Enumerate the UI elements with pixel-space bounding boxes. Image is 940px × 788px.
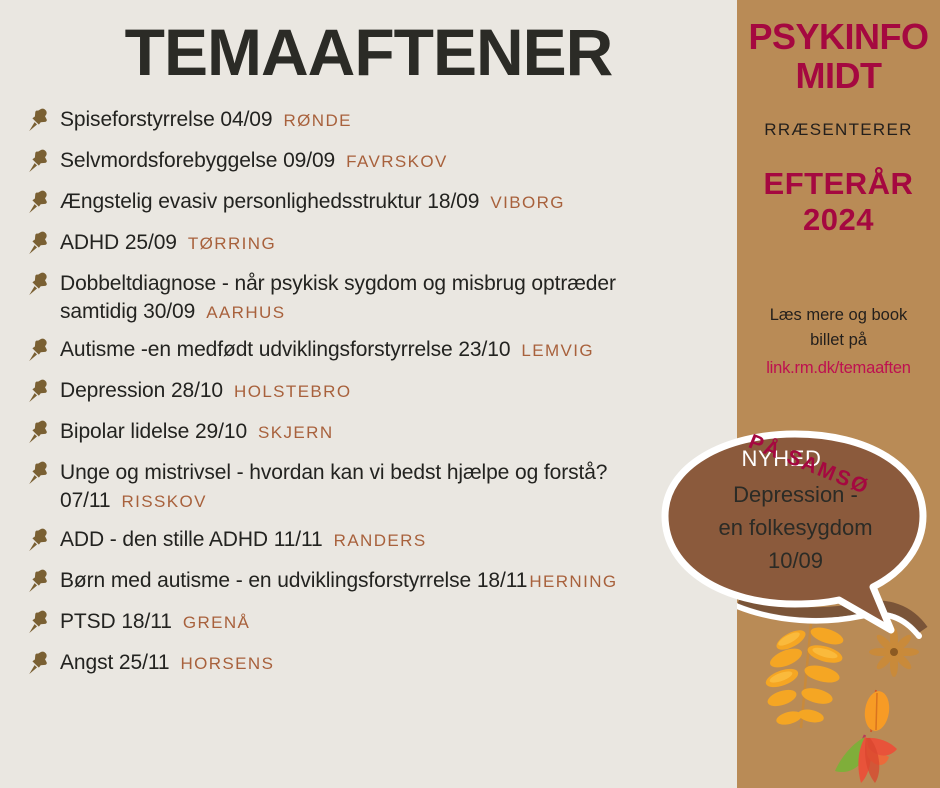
sidebar-panel: PSYKINFO MIDT RRÆSENTERER EFTERÅR 2024 L… bbox=[737, 0, 940, 788]
list-item[interactable]: Autisme -en medfødt udviklingsforstyrrel… bbox=[24, 334, 740, 366]
event-title: Dobbeltdiagnose - når psykisk sygdom og … bbox=[60, 272, 616, 323]
list-item[interactable]: PTSD 18/11GRENÅ bbox=[24, 606, 740, 638]
event-text: Depression 28/10HOLSTEBRO bbox=[60, 375, 351, 405]
event-title: Spiseforstyrrelse 04/09 bbox=[60, 108, 272, 131]
pushpin-icon bbox=[24, 458, 54, 488]
event-title: Depression 28/10 bbox=[60, 379, 223, 402]
event-text: Autisme -en medfødt udviklingsforstyrrel… bbox=[60, 334, 594, 364]
pushpin-icon bbox=[24, 525, 54, 555]
pushpin-icon bbox=[24, 376, 54, 406]
event-city: HERNING bbox=[529, 572, 617, 591]
event-city: SKJERN bbox=[258, 423, 333, 442]
event-city: VIBORG bbox=[490, 193, 565, 212]
pushpin-icon bbox=[24, 648, 54, 678]
booking-url-link[interactable]: link.rm.dk/temaaften bbox=[737, 356, 940, 382]
event-list: Spiseforstyrrelse 04/09RØNDE Selvmordsfo… bbox=[24, 104, 740, 688]
event-title: Børn med autisme - en udviklingsforstyrr… bbox=[60, 569, 527, 592]
event-city: TØRRING bbox=[188, 234, 276, 253]
list-item[interactable]: Unge og mistrivsel - hvordan kan vi beds… bbox=[24, 457, 740, 514]
page-title: TEMAAFTENER bbox=[0, 14, 737, 90]
event-text: PTSD 18/11GRENÅ bbox=[60, 606, 250, 636]
event-title: Autisme -en medfødt udviklingsforstyrrel… bbox=[60, 338, 510, 361]
news-speech-bubble[interactable]: NYHED Depression - en folkesygdom 10/09 bbox=[655, 424, 940, 649]
event-text: Ængstelig evasiv personlighedsstruktur 1… bbox=[60, 186, 565, 216]
poster-canvas: TEMAAFTENER Spiseforstyrrelse 04/09RØNDE… bbox=[0, 0, 940, 788]
pushpin-icon bbox=[24, 228, 54, 258]
event-text: Angst 25/11HORSENS bbox=[60, 647, 274, 677]
event-title: Ængstelig evasiv personlighedsstruktur 1… bbox=[60, 190, 479, 213]
event-text: ADHD 25/09TØRRING bbox=[60, 227, 276, 257]
event-title: Bipolar lidelse 29/10 bbox=[60, 420, 247, 443]
brand-name-line1: PSYKINFO bbox=[737, 18, 940, 57]
event-text: Børn med autisme - en udviklingsforstyrr… bbox=[60, 565, 618, 595]
booking-line2: billet på bbox=[737, 328, 940, 354]
list-item[interactable]: Ængstelig evasiv personlighedsstruktur 1… bbox=[24, 186, 740, 218]
event-city: RØNDE bbox=[283, 111, 351, 130]
pushpin-icon bbox=[24, 607, 54, 637]
list-item[interactable]: ADHD 25/09TØRRING bbox=[24, 227, 740, 259]
event-city: LEMVIG bbox=[521, 341, 594, 360]
pushpin-icon bbox=[24, 269, 54, 299]
list-item[interactable]: Selvmordsforebyggelse 09/09FAVRSKOV bbox=[24, 145, 740, 177]
event-city: AARHUS bbox=[206, 303, 285, 322]
event-city: RANDERS bbox=[334, 531, 427, 550]
list-item[interactable]: Børn med autisme - en udviklingsforstyrr… bbox=[24, 565, 740, 597]
event-city: HORSENS bbox=[180, 654, 274, 673]
booking-line1: Læs mere og book bbox=[737, 303, 940, 329]
pushpin-icon bbox=[24, 566, 54, 596]
bubble-text-block: NYHED Depression - en folkesygdom 10/09 bbox=[683, 446, 908, 577]
brand-name-line2: MIDT bbox=[737, 57, 940, 96]
season-year: 2024 bbox=[737, 202, 940, 239]
event-city: GRENÅ bbox=[183, 613, 250, 632]
pushpin-icon bbox=[24, 335, 54, 365]
news-badge: NYHED bbox=[655, 446, 908, 472]
bubble-date: 10/09 bbox=[683, 545, 908, 576]
event-title: ADD - den stille ADHD 11/11 bbox=[60, 528, 323, 551]
booking-info: Læs mere og book billet på link.rm.dk/te… bbox=[737, 303, 940, 382]
event-text: Spiseforstyrrelse 04/09RØNDE bbox=[60, 104, 352, 134]
list-item[interactable]: ADD - den stille ADHD 11/11RANDERS bbox=[24, 524, 740, 556]
event-city: FAVRSKOV bbox=[346, 152, 448, 171]
event-text: ADD - den stille ADHD 11/11RANDERS bbox=[60, 524, 427, 554]
list-item[interactable]: Bipolar lidelse 29/10SKJERN bbox=[24, 416, 740, 448]
event-text: Selvmordsforebyggelse 09/09FAVRSKOV bbox=[60, 145, 448, 175]
event-title: Selvmordsforebyggelse 09/09 bbox=[60, 149, 335, 172]
season-line1: EFTERÅR bbox=[737, 166, 940, 203]
event-text: Dobbeltdiagnose - når psykisk sygdom og … bbox=[60, 268, 660, 325]
list-item[interactable]: Spiseforstyrrelse 04/09RØNDE bbox=[24, 104, 740, 136]
bubble-line1: Depression - bbox=[683, 479, 908, 510]
pushpin-icon bbox=[24, 146, 54, 176]
bubble-line2: en folkesygdom bbox=[683, 512, 908, 543]
list-item[interactable]: Depression 28/10HOLSTEBRO bbox=[24, 375, 740, 407]
event-city: RISSKOV bbox=[122, 492, 207, 511]
pushpin-icon bbox=[24, 105, 54, 135]
presents-label: RRÆSENTERER bbox=[737, 120, 940, 140]
event-city: HOLSTEBRO bbox=[234, 382, 351, 401]
event-text: Bipolar lidelse 29/10SKJERN bbox=[60, 416, 334, 446]
list-item[interactable]: Angst 25/11HORSENS bbox=[24, 647, 740, 679]
event-title: ADHD 25/09 bbox=[60, 231, 177, 254]
event-title: PTSD 18/11 bbox=[60, 610, 172, 633]
pushpin-icon bbox=[24, 417, 54, 447]
list-item[interactable]: Dobbeltdiagnose - når psykisk sygdom og … bbox=[24, 268, 740, 325]
event-title: Angst 25/11 bbox=[60, 651, 169, 674]
event-text: Unge og mistrivsel - hvordan kan vi beds… bbox=[60, 457, 660, 514]
pushpin-icon bbox=[24, 187, 54, 217]
